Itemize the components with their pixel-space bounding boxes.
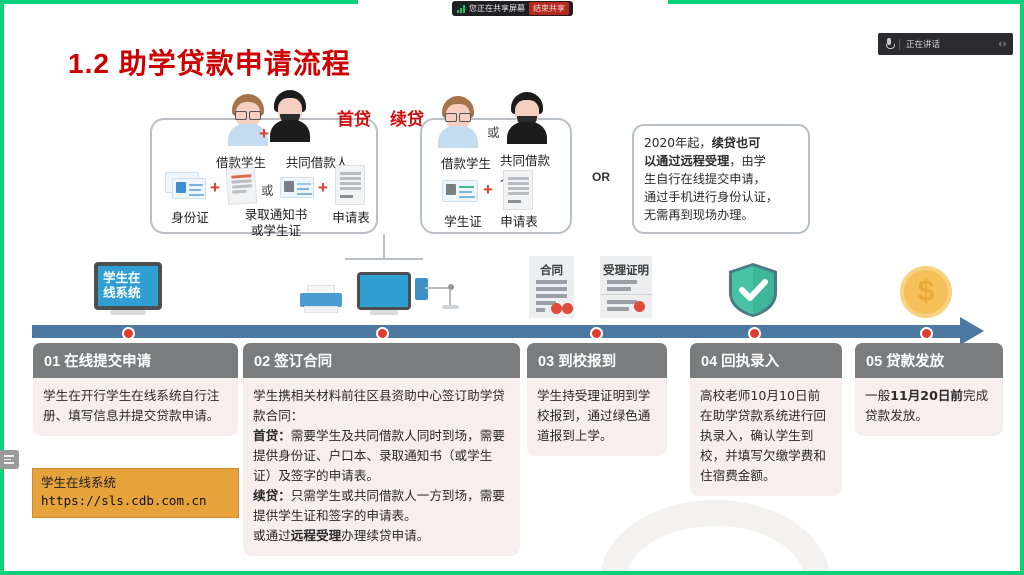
student-card-icon-2 [442, 180, 478, 202]
application-form-icon-2 [503, 170, 533, 210]
background-watermark [600, 500, 830, 575]
dollar-symbol: $ [918, 275, 935, 309]
or-small-label-1: 或 [261, 180, 274, 199]
step-card-02-body: 学生携相关材料前往区县资助中心签订助学贷款合同： 首贷：需要学生及共同借款人同时… [243, 378, 520, 556]
sound-wave-icon: ◖◗ [997, 38, 1006, 50]
share-status-text: 您正在共享屏幕 [469, 3, 525, 14]
co-borrower-avatar-icon-2 [507, 92, 547, 142]
panel-divider [899, 39, 900, 50]
student-avatar-icon-2 [438, 96, 478, 146]
plus-sign-3: + [483, 180, 493, 200]
screen-share-toolbar[interactable]: 您正在共享屏幕 结束共享 [452, 1, 573, 16]
page-title: 1.2 助学贷款申请流程 [68, 42, 351, 82]
student-online-system-url-box: 学生在线系统 https://sls.cdb.com.cn [32, 468, 239, 518]
step-card-05: 05 贷款发放 一般11月20日前完成贷款发放。 [855, 343, 1003, 436]
plus-sign-1: + [210, 178, 220, 198]
note-line2-bold: 以通过远程受理 [644, 154, 729, 168]
note-line4: 通过手机进行身份认证， [644, 190, 778, 204]
step-card-04-body: 高校老师10月10日前在助学贷款系统进行回执录入，确认学生到校，并填写欠缴学费和… [690, 378, 842, 496]
step-02-first-text: 需要学生及共同借款人同时到场，需要提供身份证、户口本、录取通知书（或学生证）及签… [253, 428, 505, 483]
step-02-renew-label: 续贷： [253, 488, 291, 503]
step-card-03-body: 学生持受理证明到学校报到，通过绿色通道报到上学。 [527, 378, 667, 456]
timeline-dot-1 [122, 327, 135, 340]
id-card-icon [172, 178, 206, 199]
timeline-dot-2 [376, 327, 389, 340]
remote-processing-note-text: 2020年起，续贷也可 以通过远程受理，由学 生自行在线提交申请， 通过手机进行… [644, 134, 802, 224]
desktop-monitor-icon [357, 272, 411, 318]
step-card-02-title: 02 签订合同 [243, 343, 520, 378]
printer-icon [300, 285, 342, 315]
step-02-tail-suffix: 办理续贷申请。 [341, 528, 429, 543]
contract-doc-title: 合同 [529, 262, 574, 278]
url-box-title: 学生在线系统 [41, 474, 230, 492]
note-line2-plain: ，由学 [729, 154, 766, 168]
step-02-tail-bold: 远程受理 [291, 528, 341, 543]
step-card-01: 01 在线提交申请 学生在开行学生在线系统自行注册、填写信息并提交贷款申请。 [33, 343, 238, 436]
contract-document-icon: 合同 [529, 256, 574, 318]
step-02-tail-prefix: 或通过 [253, 528, 291, 543]
caption-application-form-2: 申请表 [490, 211, 548, 230]
online-system-monitor-icon: 学生在线系统 [94, 262, 162, 318]
speaking-indicator-panel[interactable]: 正在讲话 ◖◗ [878, 33, 1013, 55]
note-line1-bold: 续贷也可 [712, 136, 761, 150]
note-line5: 无需再到现场办理。 [644, 208, 754, 222]
caption-student-card: 学生证 [434, 211, 492, 230]
step-02-intro: 学生携相关材料前往区县资助中心签订助学贷款合同： [253, 388, 505, 423]
signal-bars-icon [457, 5, 465, 13]
microphone-icon[interactable] [885, 38, 893, 50]
green-shield-check-icon [727, 262, 779, 318]
caption-id-card: 身份证 [160, 207, 220, 226]
monitor-screen-text: 学生在线系统 [103, 270, 149, 300]
acceptance-doc-title: 受理证明 [600, 262, 652, 278]
or-small-label-2: 或 [487, 122, 500, 141]
step-05-prefix: 一般 [865, 388, 890, 403]
menu-handle-icon[interactable] [0, 450, 19, 469]
step-card-03-title: 03 到校报到 [527, 343, 667, 378]
scanner-icon [415, 278, 455, 314]
right-arrow-icon [960, 317, 984, 345]
url-box-link[interactable]: https://sls.cdb.com.cn [41, 492, 230, 510]
step-02-first-label: 首贷： [253, 428, 291, 443]
admission-letter-icon [226, 167, 257, 205]
dollar-coin-icon: $ [900, 266, 952, 318]
step-05-bold: 11月20日前 [890, 388, 963, 403]
step-card-02: 02 签订合同 学生携相关材料前往区县资助中心签订助学贷款合同： 首贷：需要学生… [243, 343, 520, 556]
student-card-icon-1 [280, 177, 314, 198]
connector-vertical [383, 234, 385, 260]
slide-root: 您正在共享屏幕 结束共享 正在讲话 ◖◗ 1.2 助学贷款申请流程 + 借款学生… [0, 0, 1024, 575]
tag-first-loan: 首贷 [337, 105, 371, 130]
step-02-renew-text: 只需学生或共同借款人一方到场，需要提供学生证和签字的申请表。 [253, 488, 505, 523]
co-borrower-avatar-icon [270, 90, 310, 140]
step-card-04-title: 04 回执录入 [690, 343, 842, 378]
step-card-05-body: 一般11月20日前完成贷款发放。 [855, 378, 1003, 436]
timeline-bar [32, 325, 962, 338]
timeline-dot-4 [748, 327, 761, 340]
caption-borrower-student-2: 借款学生 [430, 153, 502, 172]
timeline-dot-3 [590, 327, 603, 340]
acceptance-certificate-icon: 受理证明 [600, 256, 652, 318]
caption-admission-letter: 录取通知书 或学生证 [224, 207, 328, 239]
speaking-label: 正在讲话 [906, 38, 940, 50]
caption-application-form-1: 申请表 [322, 207, 380, 226]
note-line1-plain: 2020年起， [644, 136, 712, 150]
step-card-04: 04 回执录入 高校老师10月10日前在助学贷款系统进行回执录入，确认学生到校，… [690, 343, 842, 496]
application-form-icon-1 [335, 165, 365, 205]
timeline-dot-5 [920, 327, 933, 340]
stop-share-button[interactable]: 结束共享 [529, 2, 569, 15]
tag-renew-loan: 续贷 [390, 105, 424, 130]
step-card-01-body: 学生在开行学生在线系统自行注册、填写信息并提交贷款申请。 [33, 378, 238, 436]
step-card-01-title: 01 在线提交申请 [33, 343, 238, 378]
note-line3: 生自行在线提交申请， [644, 172, 766, 186]
or-divider-label: OR [592, 170, 610, 184]
connector-horizontal [345, 258, 423, 260]
plus-sign-people: + [259, 124, 269, 144]
step-card-05-title: 05 贷款发放 [855, 343, 1003, 378]
step-card-03: 03 到校报到 学生持受理证明到学校报到，通过绿色通道报到上学。 [527, 343, 667, 456]
plus-sign-2: + [318, 178, 328, 198]
